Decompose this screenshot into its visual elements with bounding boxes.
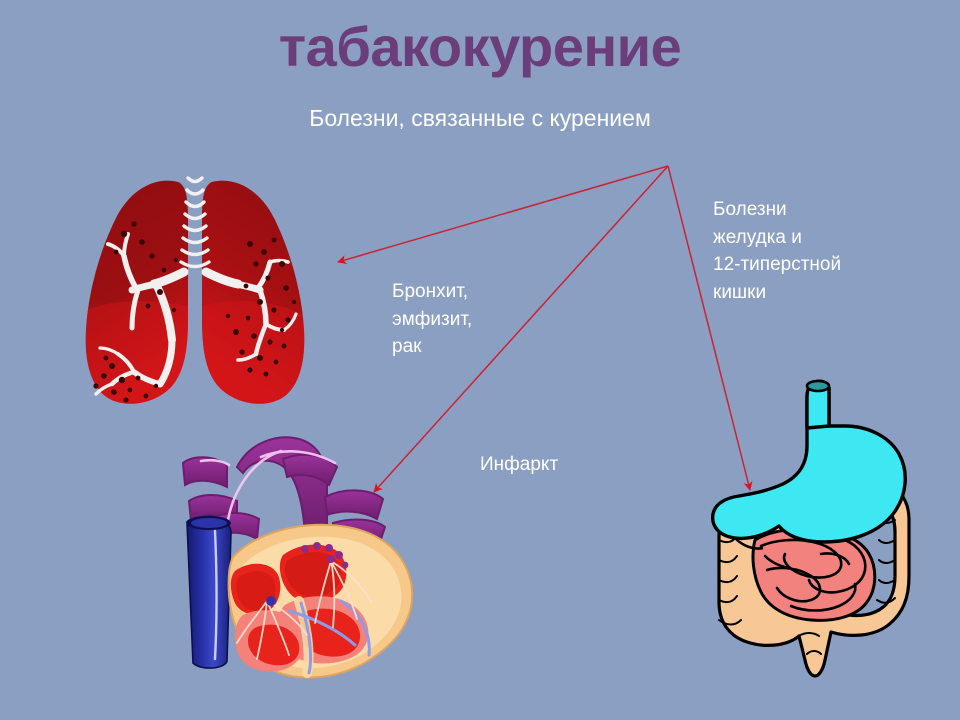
- label-line: желудка и: [713, 224, 841, 252]
- label-line: Бронхит,: [392, 278, 472, 306]
- label-bronchitis-emphysema-cancer: Бронхит, эмфизит, рак: [392, 278, 472, 361]
- page-title: табакокурение: [0, 16, 960, 78]
- label-line: кишки: [713, 279, 841, 307]
- page-subtitle: Болезни, связанные с курением: [0, 105, 960, 133]
- label-line: рак: [392, 333, 472, 361]
- label-line: эмфизит,: [392, 306, 472, 334]
- label-heart-attack: Инфаркт: [480, 451, 558, 479]
- slide-canvas: табакокурение Болезни, связанные с курен…: [0, 0, 960, 720]
- label-line: Инфаркт: [480, 451, 558, 479]
- label-line: 12-типерстной: [713, 251, 841, 279]
- arrow-to-lungs: [338, 166, 668, 262]
- label-stomach-duodenum-diseases: Болезни желудка и 12-типерстной кишки: [713, 196, 841, 306]
- label-line: Болезни: [713, 196, 841, 224]
